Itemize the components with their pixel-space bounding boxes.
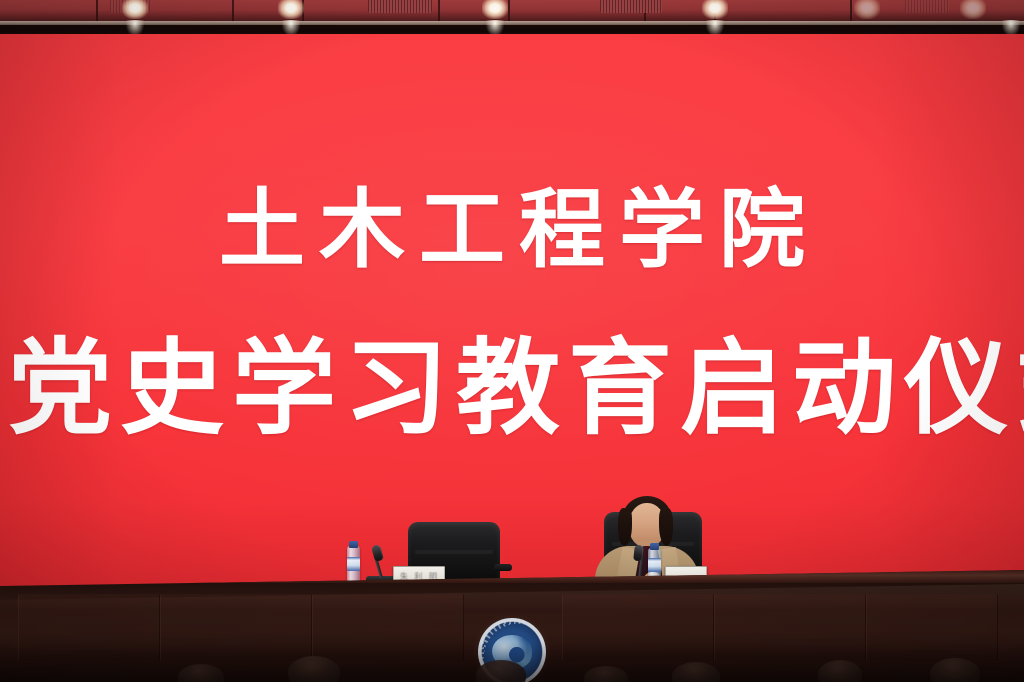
- banner-title-line-1: 土木工程学院: [0, 182, 1024, 278]
- ceiling-panel-seam: [96, 0, 98, 22]
- rostrum-panel: [18, 594, 160, 661]
- ceiling-panel-seam: [232, 0, 234, 22]
- rostrum-panel: [562, 594, 714, 661]
- bottle-cap: [349, 541, 358, 548]
- speaker-hair-side: [659, 508, 673, 546]
- microphone-head: [633, 545, 644, 562]
- ceiling-downlight-icon: [960, 0, 986, 19]
- audience-head: [288, 656, 340, 682]
- audience-head: [930, 658, 980, 682]
- audience-head: [476, 660, 526, 682]
- rostrum-desk-edge: [0, 570, 1024, 583]
- ceiling-downlight-icon: [854, 0, 880, 19]
- ceiling-downlight-icon: [702, 0, 728, 19]
- backdrop-right-shading: [874, 34, 1024, 590]
- ceiling-downlight-icon: [278, 0, 304, 19]
- ceiling-panel-seam: [850, 0, 852, 22]
- bottle-cap: [650, 543, 659, 550]
- red-banner-backdrop: [0, 34, 1024, 590]
- ceiling-panel-seam: [508, 0, 510, 22]
- bottle-label: [347, 557, 360, 571]
- ventilation-grille-icon: [905, 0, 949, 13]
- rostrum-panel: [312, 594, 464, 661]
- ventilation-grille-icon: [368, 0, 432, 13]
- banner-title-line-2: 党史学习教育启动仪式: [0, 330, 1024, 446]
- rostrum-panel: [866, 594, 998, 661]
- ceremony-photo: 土木工程学院 党史学习教育启动仪式 朱 利 明: [0, 0, 1024, 682]
- ceiling-panel-seam: [438, 0, 440, 22]
- ceiling-downlight-icon: [482, 0, 508, 19]
- backdrop-left-shading: [0, 34, 120, 590]
- rostrum-panel: [160, 594, 312, 661]
- ceiling-downlight-icon: [122, 0, 148, 19]
- audience-head: [818, 660, 862, 682]
- ceiling: [0, 0, 1024, 36]
- rostrum-panel: [714, 594, 866, 661]
- ventilation-grille-icon: [600, 0, 662, 13]
